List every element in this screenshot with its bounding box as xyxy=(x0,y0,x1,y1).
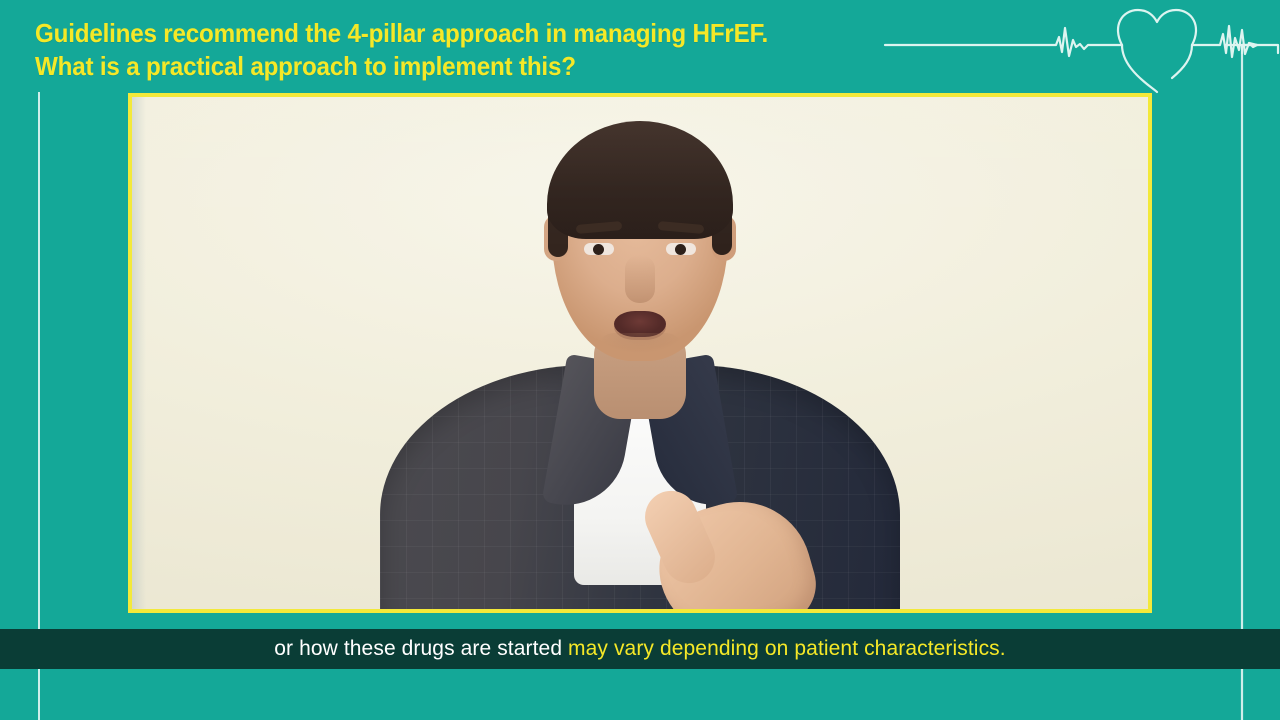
page-title: Guidelines recommend the 4-pillar approa… xyxy=(35,17,853,83)
speaker-portrait xyxy=(132,97,1148,609)
caption-bar: or how these drugs are started may vary … xyxy=(0,629,1280,669)
caption-plain-text: or how these drugs are started xyxy=(274,637,568,660)
caption-text: or how these drugs are started may vary … xyxy=(274,637,1005,661)
caption-highlight-text: may vary depending on patient characteri… xyxy=(568,637,1006,660)
hair xyxy=(547,121,733,239)
left-rule-line xyxy=(38,92,40,720)
title-line-1: Guidelines recommend the 4-pillar approa… xyxy=(35,17,853,50)
nose xyxy=(625,255,655,303)
pupil-right xyxy=(675,244,686,255)
title-line-2: What is a practical approach to implemen… xyxy=(35,50,853,83)
video-player-frame[interactable] xyxy=(128,93,1152,613)
chin xyxy=(597,333,683,367)
pupil-left xyxy=(593,244,604,255)
presentation-slide: Guidelines recommend the 4-pillar approa… xyxy=(0,0,1280,720)
eye-right xyxy=(666,243,696,255)
eye-left xyxy=(584,243,614,255)
